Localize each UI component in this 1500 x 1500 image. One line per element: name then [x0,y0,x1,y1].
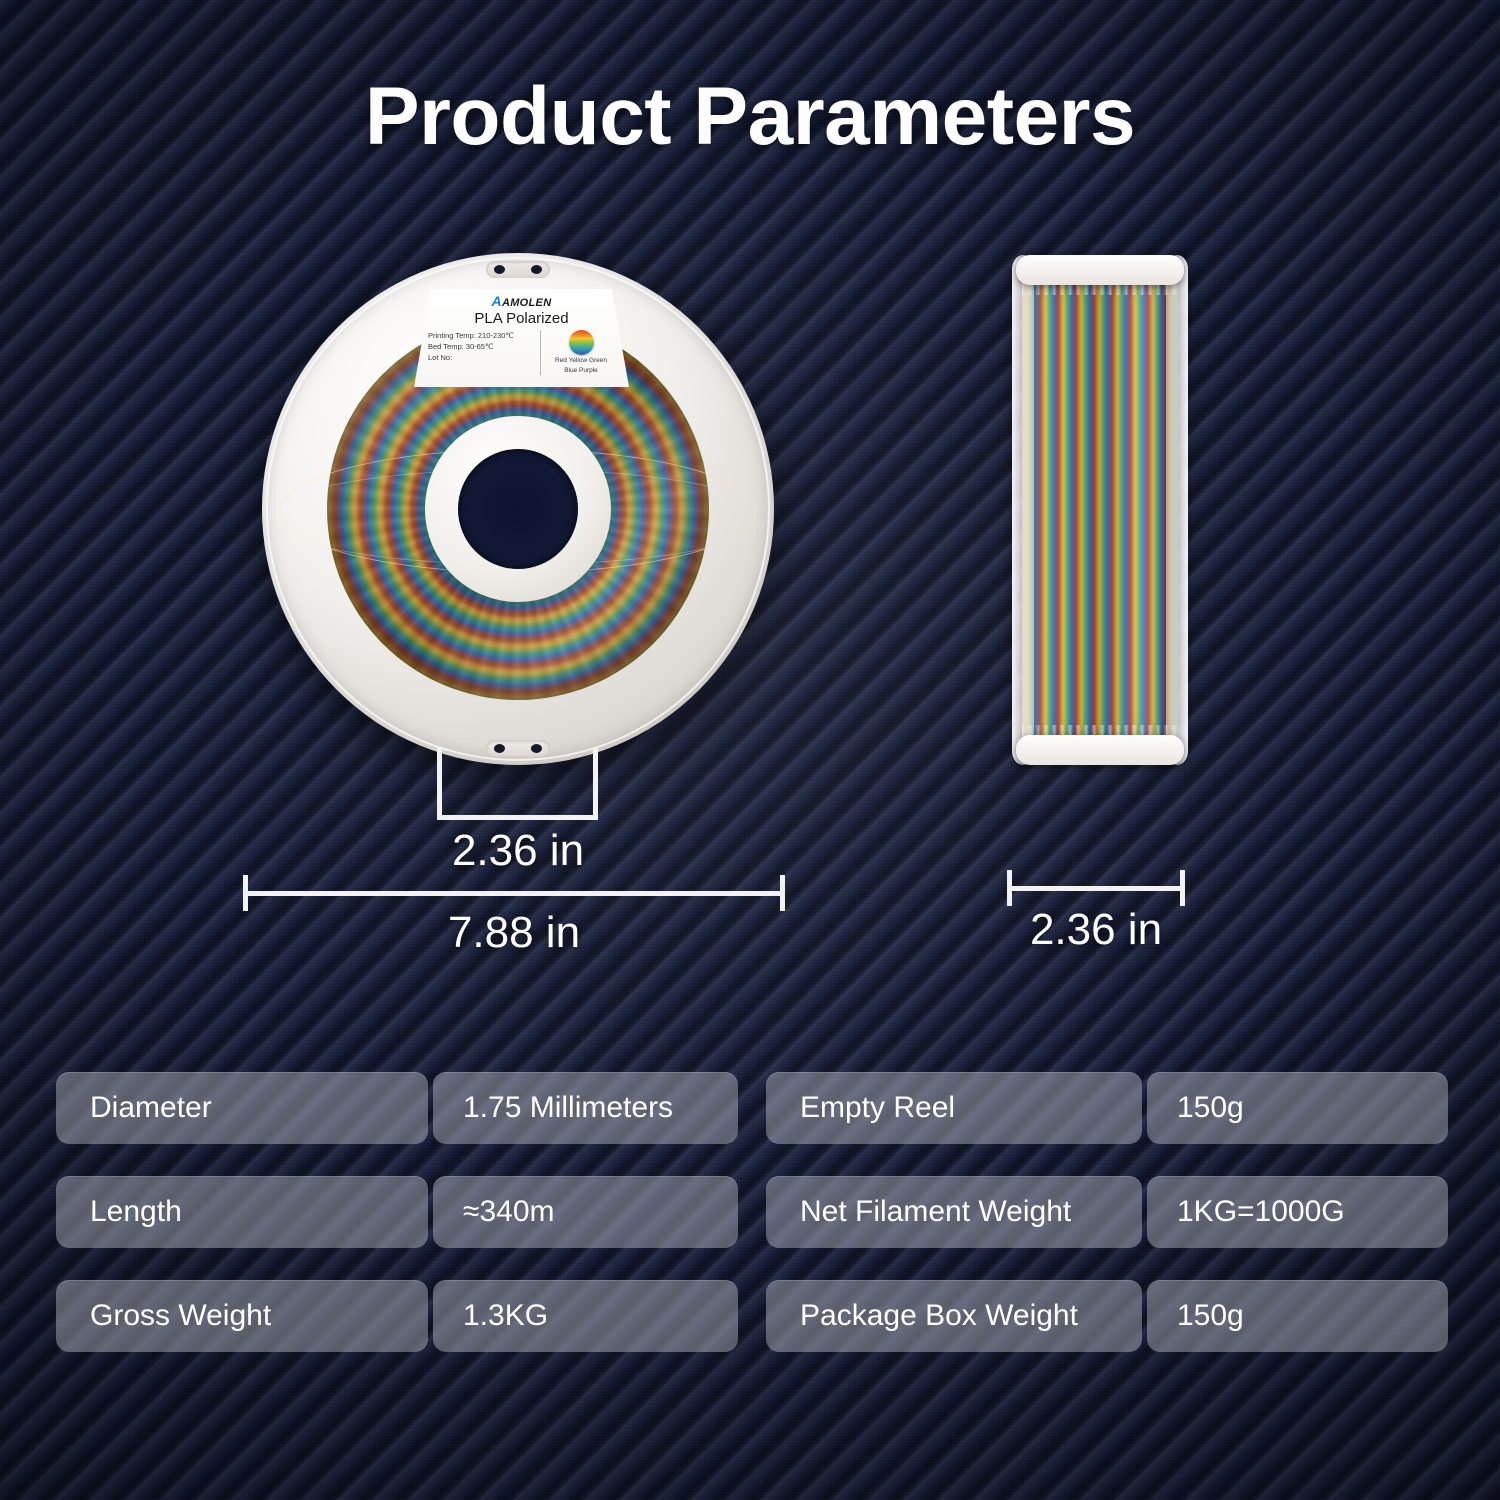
table-row-left-pair: Diameter 1.75 Millimeters [56,1072,738,1144]
spec-label: Length [56,1176,428,1248]
label-color-line1: Red Yellow Green [547,357,615,365]
table-column-gap [738,1280,766,1352]
dimension-tick-right [1180,870,1185,906]
table-row-left-pair: Length ≈340m [56,1176,738,1248]
spec-label: Net Filament Weight [766,1176,1142,1248]
spool-notch-top [486,261,550,278]
dimension-line-depth [1007,870,1185,906]
side-flange-top-edge [1016,255,1184,285]
dimension-label-hub-width: 2.36 in [378,826,658,876]
spec-value: ≈340m [433,1176,738,1248]
label-lot-no: Lot No: [428,352,535,363]
dimension-line-outer-diameter [243,875,785,911]
table-column-gap [738,1072,766,1144]
spec-table: Diameter 1.75 Millimeters Empty Reel 150… [56,1072,1448,1352]
notch-hole [494,265,505,274]
label-color-line2: Blue Purple [547,367,615,375]
spec-label: Package Box Weight [766,1280,1142,1352]
side-flange-bottom-edge [1016,735,1184,765]
spec-label: Diameter [56,1072,428,1144]
filament-strands [1022,281,1178,739]
side-flange-right [1166,255,1188,765]
brand-name: AMOLEN [502,297,551,309]
table-row-right-pair: Empty Reel 150g [766,1072,1448,1144]
label-bed-temp: Bed Temp: 30-65℃ [428,341,535,352]
page-title: Product Parameters [0,70,1500,164]
spec-label: Empty Reel [766,1072,1142,1144]
dimension-tick-left [243,875,248,911]
spec-value: 1.75 Millimeters [433,1072,738,1144]
table-row: Length ≈340m Net Filament Weight 1KG=100… [56,1176,1448,1248]
brand-logo: AAMOLEN [428,295,615,309]
dimension-label-outer-diameter: 7.88 in [374,908,654,958]
spec-value: 150g [1147,1280,1448,1352]
dimension-tick-right [780,875,785,911]
dimension-bracket-hub-width [437,748,598,820]
spec-value: 1.3KG [433,1280,738,1352]
spool-center-hole [458,449,578,569]
infographic-canvas: Product Parameters AAMOLEN PLA Po [0,0,1500,1500]
strands-sheen [1022,281,1178,739]
filament-spool-side-view [1012,255,1188,765]
label-product-name: PLA Polarized [428,310,615,327]
label-color-info: Red Yellow Green Blue Purple [541,330,615,375]
label-printing-temp: Printing Temp: 210-230℃ [428,330,535,341]
brand-initial: A [492,293,502,309]
table-row-right-pair: Package Box Weight 150g [766,1280,1448,1352]
filament-spool-front-view: AAMOLEN PLA Polarized Printing Temp: 210… [262,253,774,765]
dimension-tick-left [1007,870,1012,906]
table-row: Gross Weight 1.3KG Package Box Weight 15… [56,1280,1448,1352]
side-flange-left [1012,255,1034,765]
table-row-right-pair: Net Filament Weight 1KG=1000G [766,1176,1448,1248]
notch-hole [531,265,542,274]
spool-product-label: AAMOLEN PLA Polarized Printing Temp: 210… [414,289,629,387]
dimension-label-depth: 2.36 in [956,905,1236,955]
spec-value: 150g [1147,1072,1448,1144]
table-row-left-pair: Gross Weight 1.3KG [56,1280,738,1352]
dimension-bar [1007,886,1185,891]
dimension-bar [243,891,785,896]
rainbow-circle-icon [569,330,594,355]
spec-label: Gross Weight [56,1280,428,1352]
table-row: Diameter 1.75 Millimeters Empty Reel 150… [56,1072,1448,1144]
spec-value: 1KG=1000G [1147,1176,1448,1248]
table-column-gap [738,1176,766,1248]
label-spec-list: Printing Temp: 210-230℃ Bed Temp: 30-65℃… [428,330,541,375]
